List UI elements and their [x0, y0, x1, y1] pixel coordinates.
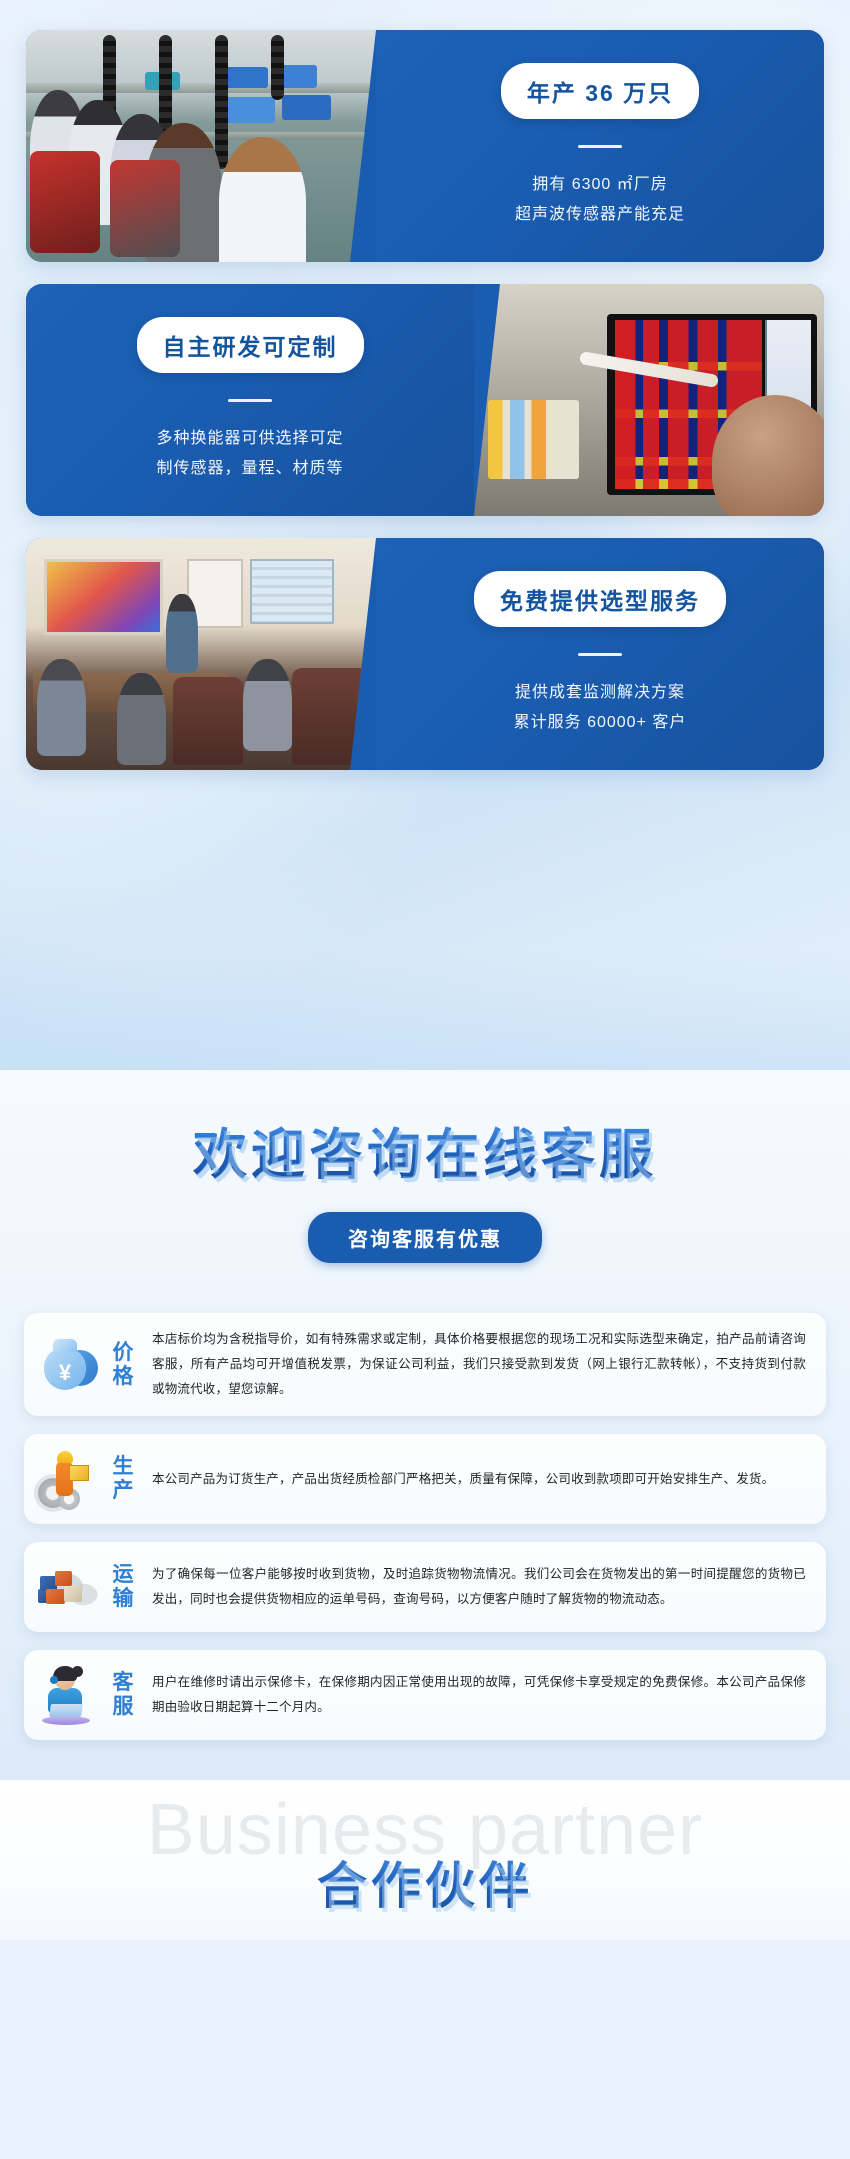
info-card-label: 运输: [106, 1563, 140, 1611]
worker-gear-icon: [36, 1448, 98, 1510]
info-card-text: 为了确保每一位客户能够按时收到货物，及时追踪货物物流情况。我们公司会在货物发出的…: [152, 1562, 806, 1612]
service-agent-icon: [36, 1664, 98, 1726]
feature-card-panel: 自主研发可定制 多种换能器可供选择可定 制传感器，量程、材质等: [26, 284, 474, 516]
info-card-label: 生产: [106, 1455, 140, 1503]
meeting-room-training-photo: [26, 538, 376, 770]
info-card-price: ¥ 价格 本店标价均为含税指导价，如有特殊需求或定制，具体价格要根据您的现场工况…: [24, 1313, 826, 1416]
info-card-text: 用户在维修时请出示保修卡，在保修期内因正常使用出现的故障，可凭保修卡享受规定的免…: [152, 1670, 806, 1720]
info-card-text: 本公司产品为订货生产，产品出货经质检部门严格把关，质量有保障，公司收到款项即可开…: [152, 1467, 806, 1492]
pcb-design-workstation-photo: [474, 284, 824, 516]
feature-desc-line: 超声波传感器产能充足: [515, 200, 685, 230]
divider: [228, 399, 272, 402]
feature-card[interactable]: 免费提供选型服务 提供成套监测解决方案 累计服务 60000+ 客户: [26, 538, 824, 770]
feature-desc-line: 制传感器，量程、材质等: [156, 454, 343, 484]
info-card-label: 价格: [106, 1341, 140, 1389]
feature-card-panel: 年产 36 万只 拥有 6300 ㎡厂房 超声波传感器产能充足: [376, 30, 824, 262]
partner-section: Business partner 合作伙伴: [0, 1780, 850, 1940]
info-card-transport: 运输 为了确保每一位客户能够按时收到货物，及时追踪货物物流情况。我们公司会在货物…: [24, 1542, 826, 1632]
feature-badge: 年产 36 万只: [501, 63, 699, 119]
cargo-crates-icon: [36, 1556, 98, 1618]
factory-assembly-line-photo: [26, 30, 376, 262]
feature-desc-line: 多种换能器可供选择可定: [156, 424, 343, 454]
partner-title: 合作伙伴: [0, 1846, 850, 1918]
feature-highlights-section: 年产 36 万只 拥有 6300 ㎡厂房 超声波传感器产能充足 自主研发可定制 …: [0, 0, 850, 1070]
feature-desc-line: 拥有 6300 ㎡厂房: [532, 170, 668, 200]
feature-card-panel: 免费提供选型服务 提供成套监测解决方案 累计服务 60000+ 客户: [376, 538, 824, 770]
consult-banner-section: 欢迎咨询在线客服 咨询客服有优惠: [0, 1070, 850, 1289]
info-card-text: 本店标价均为含税指导价，如有特殊需求或定制，具体价格要根据您的现场工况和实际选型…: [152, 1327, 806, 1402]
consult-cta-button[interactable]: 咨询客服有优惠: [308, 1212, 542, 1263]
service-info-section: ¥ 价格 本店标价均为含税指导价，如有特殊需求或定制，具体价格要根据您的现场工况…: [0, 1289, 850, 1780]
feature-badge: 免费提供选型服务: [474, 571, 726, 627]
divider: [578, 145, 622, 148]
feature-card[interactable]: 自主研发可定制 多种换能器可供选择可定 制传感器，量程、材质等: [26, 284, 824, 516]
divider: [578, 653, 622, 656]
info-card-production: 生产 本公司产品为订货生产，产品出货经质检部门严格把关，质量有保障，公司收到款项…: [24, 1434, 826, 1524]
money-bag-icon: ¥: [36, 1334, 98, 1396]
consult-title: 欢迎咨询在线客服: [0, 1124, 850, 1186]
info-card-label: 客服: [106, 1671, 140, 1719]
feature-desc-line: 提供成套监测解决方案: [515, 678, 685, 708]
feature-badge: 自主研发可定制: [137, 317, 364, 373]
info-card-service: 客服 用户在维修时请出示保修卡，在保修期内因正常使用出现的故障，可凭保修卡享受规…: [24, 1650, 826, 1740]
feature-card[interactable]: 年产 36 万只 拥有 6300 ㎡厂房 超声波传感器产能充足: [26, 30, 824, 262]
feature-desc-line: 累计服务 60000+ 客户: [514, 708, 687, 738]
